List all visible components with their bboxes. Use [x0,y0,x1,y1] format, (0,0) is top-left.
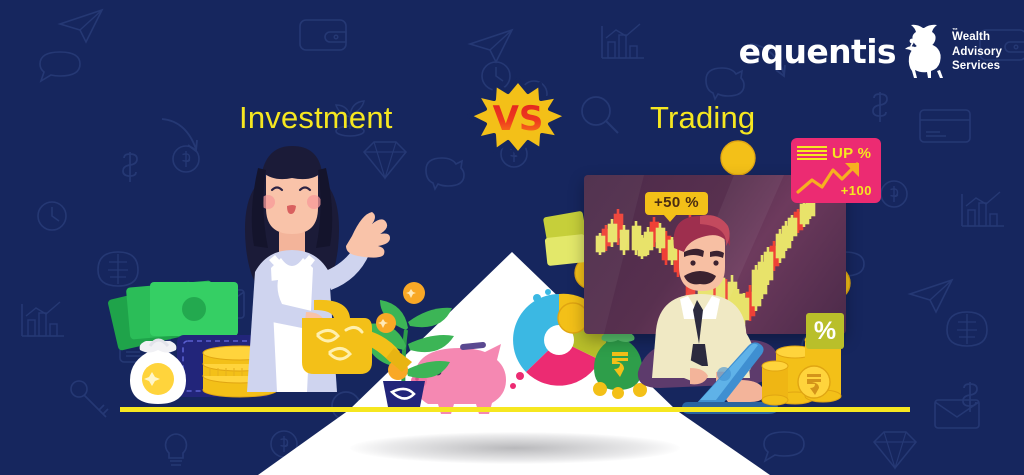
percent-tag: % [806,313,844,349]
trading-heading: Trading [650,100,755,136]
logo-wordmark: equentis [739,35,896,68]
bull-icon [901,23,947,79]
trademark-symbol: ™ [952,28,958,36]
investment-heading: Investment [239,100,393,136]
rupee-coin [798,366,830,398]
investment-vs-trading-banner: +50 % UP % +100 [0,0,1024,475]
ground-line [120,407,910,412]
logo-tagline-line1: Wealth™ [952,30,1002,45]
percent-tag-text: % [814,319,836,344]
vs-badge: VS [466,78,570,156]
logo-tagline-line3: Services [952,59,1002,74]
logo-tagline: Wealth™ Advisory Services [952,28,1002,74]
logo-tagline-line2: Advisory [952,45,1002,60]
equentis-logo: equentis Wealth™ Advisory Services [739,22,1002,80]
vs-badge-text: VS [493,99,544,139]
